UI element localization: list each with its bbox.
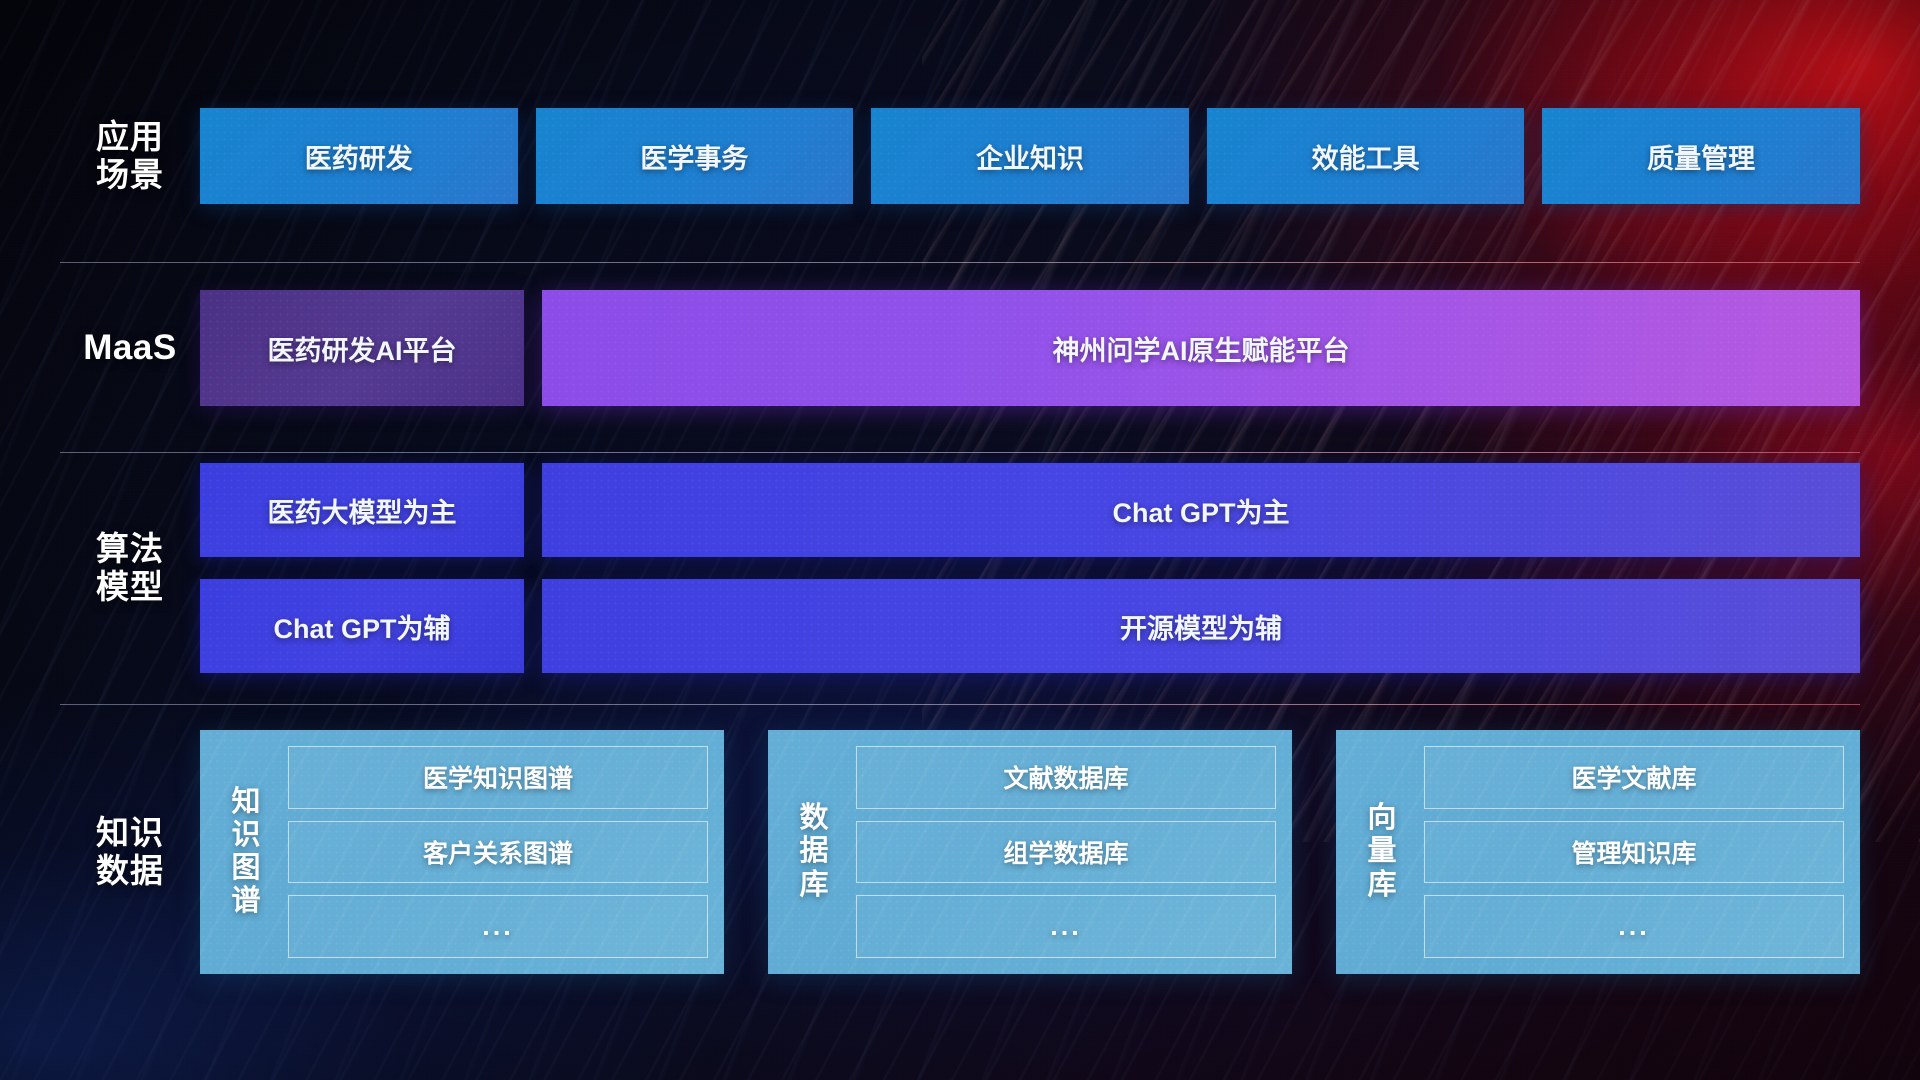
divider-maas-algorithm <box>60 452 1860 453</box>
algo-box-chatgpt-primary[interactable]: Chat GPT为主 <box>542 463 1860 557</box>
tier-label-maas: MaaS <box>60 328 200 369</box>
architecture-stack: 应用 场景 医药研发 医学事务 企业知识 效能工具 质量管理 MaaS 医药研发… <box>0 0 1920 1080</box>
divider-application-maas <box>60 262 1860 263</box>
knowledge-item-customer-relation-graph[interactable]: 客户关系图谱 <box>288 821 708 884</box>
vlabel-char-3: 库 <box>1367 869 1396 902</box>
algo-box-chatgpt-secondary[interactable]: Chat GPT为辅 <box>200 579 524 673</box>
tier-label-line-2: 场景 <box>60 156 200 194</box>
tier-maas-boxes: 医药研发AI平台 神州问学AI原生赋能平台 <box>200 290 1860 406</box>
tier-knowledge-panels: 知 识 图 谱 医学知识图谱 客户关系图谱 ... 数 据 库 <box>200 730 1860 974</box>
tier-algorithm: 算法 模型 医药大模型为主 Chat GPT为主 Chat GPT为辅 开源模型… <box>60 462 1860 674</box>
knowledge-panel-database[interactable]: 数 据 库 文献数据库 组学数据库 ... <box>768 730 1292 974</box>
knowledge-panel-label-vector-store: 向 量 库 <box>1354 746 1410 958</box>
tier-knowledge: 知识 数据 知 识 图 谱 医学知识图谱 客户关系图谱 ... 数 <box>60 730 1860 974</box>
vlabel-char-3: 库 <box>799 869 828 902</box>
app-box-quality-management[interactable]: 质量管理 <box>1542 108 1860 204</box>
tier-application-boxes: 医药研发 医学事务 企业知识 效能工具 质量管理 <box>200 108 1860 204</box>
knowledge-item-medical-literature-store[interactable]: 医学文献库 <box>1424 746 1844 809</box>
tier-label-line-2: 模型 <box>60 568 200 606</box>
tier-label-algorithm: 算法 模型 <box>60 530 200 607</box>
app-box-drug-rnd[interactable]: 医药研发 <box>200 108 518 204</box>
knowledge-item-more-vector[interactable]: ... <box>1424 895 1844 958</box>
knowledge-items-vector-store: 医学文献库 管理知识库 ... <box>1424 746 1844 958</box>
tier-label-line-1: 应用 <box>60 118 200 156</box>
app-box-efficiency-tools[interactable]: 效能工具 <box>1207 108 1525 204</box>
tier-label-line-1: 知识 <box>60 814 200 852</box>
vlabel-char-3: 图 <box>231 852 260 885</box>
knowledge-item-literature-database[interactable]: 文献数据库 <box>856 746 1276 809</box>
knowledge-item-omics-database[interactable]: 组学数据库 <box>856 821 1276 884</box>
vlabel-char-2: 量 <box>1367 835 1396 868</box>
knowledge-panel-label-knowledge-graph: 知 识 图 谱 <box>218 746 274 958</box>
knowledge-panel-label-database: 数 据 库 <box>786 746 842 958</box>
algo-box-opensource-secondary[interactable]: 开源模型为辅 <box>542 579 1860 673</box>
knowledge-panel-vector-store[interactable]: 向 量 库 医学文献库 管理知识库 ... <box>1336 730 1860 974</box>
divider-algorithm-knowledge <box>60 704 1860 705</box>
tier-label-knowledge: 知识 数据 <box>60 814 200 891</box>
vlabel-char-1: 数 <box>799 802 828 835</box>
knowledge-panel-knowledge-graph[interactable]: 知 识 图 谱 医学知识图谱 客户关系图谱 ... <box>200 730 724 974</box>
vlabel-char-2: 据 <box>799 835 828 868</box>
app-box-enterprise-knowledge[interactable]: 企业知识 <box>871 108 1189 204</box>
knowledge-item-more-database[interactable]: ... <box>856 895 1276 958</box>
tier-label-application: 应用 场景 <box>60 118 200 195</box>
maas-box-drug-rnd-ai-platform[interactable]: 医药研发AI平台 <box>200 290 524 406</box>
knowledge-item-management-knowledge-store[interactable]: 管理知识库 <box>1424 821 1844 884</box>
algo-box-pharma-llm-primary[interactable]: 医药大模型为主 <box>200 463 524 557</box>
app-box-medical-affairs[interactable]: 医学事务 <box>536 108 854 204</box>
knowledge-items-knowledge-graph: 医学知识图谱 客户关系图谱 ... <box>288 746 708 958</box>
tier-maas: MaaS 医药研发AI平台 神州问学AI原生赋能平台 <box>60 290 1860 406</box>
algorithm-row-primary: 医药大模型为主 Chat GPT为主 <box>200 463 1860 557</box>
algorithm-row-secondary: Chat GPT为辅 开源模型为辅 <box>200 579 1860 673</box>
vlabel-char-4: 谱 <box>231 885 260 918</box>
knowledge-item-medical-knowledge-graph[interactable]: 医学知识图谱 <box>288 746 708 809</box>
tier-label-line-1: 算法 <box>60 530 200 568</box>
knowledge-items-database: 文献数据库 组学数据库 ... <box>856 746 1276 958</box>
vlabel-char-2: 识 <box>231 819 260 852</box>
vlabel-char-1: 向 <box>1367 802 1396 835</box>
tier-application: 应用 场景 医药研发 医学事务 企业知识 效能工具 质量管理 <box>60 108 1860 204</box>
vlabel-char-1: 知 <box>231 786 260 819</box>
tier-label-line-2: 数据 <box>60 852 200 890</box>
knowledge-item-more-graph[interactable]: ... <box>288 895 708 958</box>
tier-algorithm-rows: 医药大模型为主 Chat GPT为主 Chat GPT为辅 开源模型为辅 <box>200 463 1860 673</box>
maas-box-shenzhou-wenxue-platform[interactable]: 神州问学AI原生赋能平台 <box>542 290 1860 406</box>
